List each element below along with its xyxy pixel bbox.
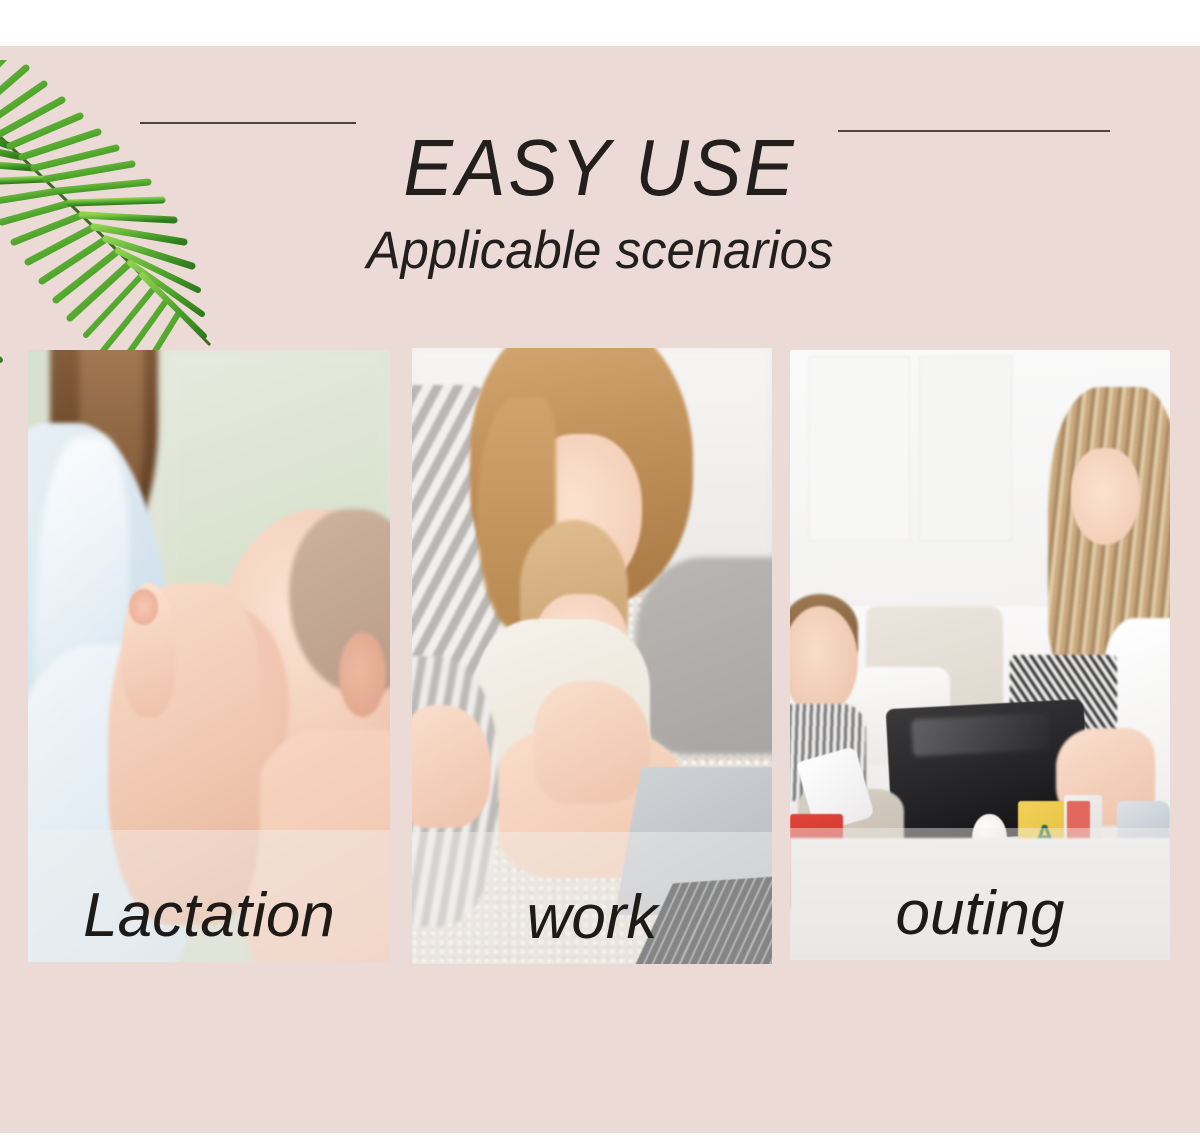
scenario-gallery: Lactation [0, 0, 1200, 1147]
promo-banner: EASY USE Applicable scenarios [0, 0, 1200, 1147]
scenario-card-work[interactable]: work [412, 348, 772, 964]
scenario-card-lactation[interactable]: Lactation [28, 350, 390, 962]
scenario-caption-lactation: Lactation [28, 883, 390, 948]
scenario-card-outing[interactable]: A outing [790, 350, 1170, 960]
scenario-caption-outing: outing [790, 881, 1170, 946]
scenario-caption-work: work [412, 885, 772, 950]
